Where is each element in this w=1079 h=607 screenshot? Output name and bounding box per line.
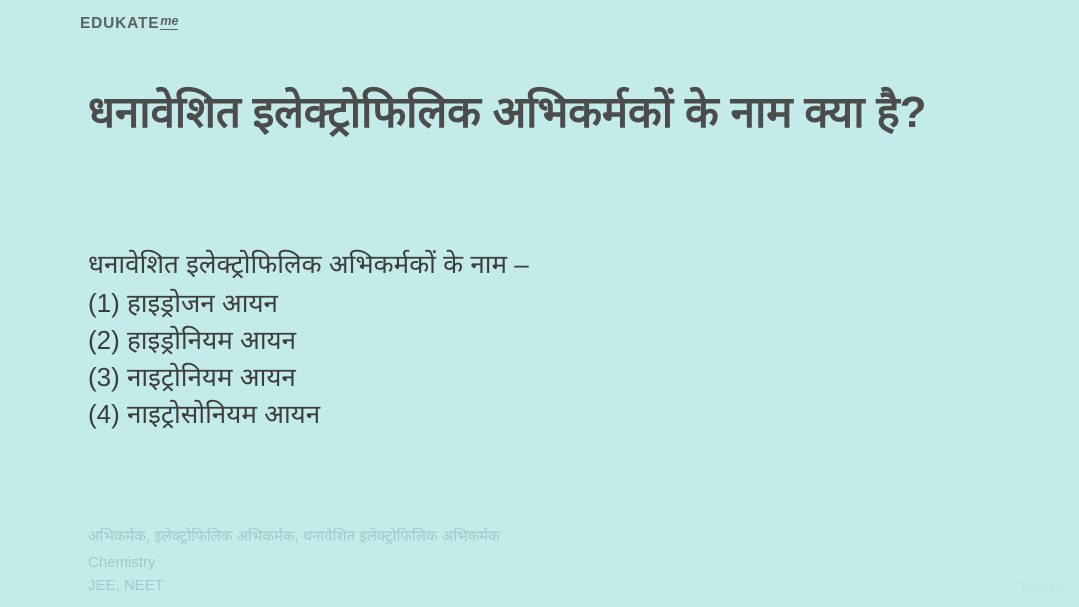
question-heading: धनावेशित इलेक्ट्रोफिलिक अभिकर्मकों के ना… [88,86,988,140]
footer-exams: JEE, NEET [88,574,500,597]
brand-logo[interactable]: EDUKATEme [80,16,178,32]
footer-tags: अभिकर्मक, इलेक्ट्रोफिलिक अभिकर्मक, धनावे… [88,525,500,548]
list-item: (1) हाइड्रोजन आयन [88,285,948,322]
slide-canvas: EDUKATEme धनावेशित इलेक्ट्रोफिलिक अभिकर्… [0,0,1079,607]
brand-suffix: me [160,15,178,30]
answer-intro: धनावेशित इलेक्ट्रोफिलिक अभिकर्मकों के ना… [88,246,948,283]
footer: अभिकर्मक, इलेक्ट्रोफिलिक अभिकर्मक, धनावे… [88,525,500,597]
footer-subject: Chemistry [88,551,500,574]
list-item: (2) हाइड्रोनियम आयन [88,322,948,359]
answer-list: (1) हाइड्रोजन आयन (2) हाइड्रोनियम आयन (3… [88,285,948,433]
list-item: (4) नाइट्रोसोनियम आयन [88,396,948,433]
watermark-id: 752418 [1012,578,1065,595]
answer-block: धनावेशित इलेक्ट्रोफिलिक अभिकर्मकों के ना… [88,246,948,433]
brand-name: EDUKATE [80,16,159,32]
list-item: (3) नाइट्रोनियम आयन [88,359,948,396]
